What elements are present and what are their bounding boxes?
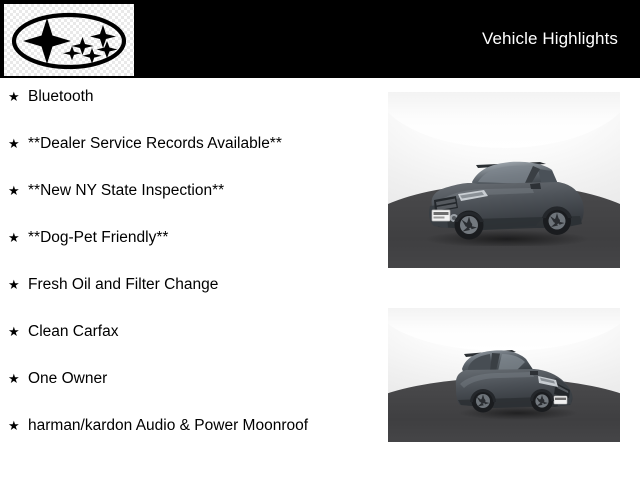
star-bullet-icon: ★	[8, 321, 20, 343]
vehicle-silhouette-icon	[412, 144, 598, 246]
header-bar: Vehicle Highlights	[0, 0, 640, 78]
star-bullet-icon: ★	[8, 133, 20, 155]
subaru-logo-icon	[11, 12, 127, 70]
star-bullet-icon: ★	[8, 368, 20, 390]
list-item: ★ Bluetooth	[0, 86, 380, 133]
list-item-label: **Dealer Service Records Available**	[28, 133, 376, 155]
list-item: ★ Clean Carfax	[0, 321, 380, 368]
vehicle-photo-front-right[interactable]	[388, 308, 620, 442]
list-item-label: Bluetooth	[28, 86, 376, 108]
list-item: ★ One Owner	[0, 368, 380, 415]
star-bullet-icon: ★	[8, 180, 20, 202]
list-item: ★ **Dog-Pet Friendly**	[0, 227, 380, 274]
list-item-label: One Owner	[28, 368, 376, 390]
star-bullet-icon: ★	[8, 415, 20, 437]
vehicle-highlights-list: ★ Bluetooth ★ **Dealer Service Records A…	[0, 86, 380, 462]
list-item-label: Fresh Oil and Filter Change	[28, 274, 376, 296]
subaru-logo	[4, 4, 134, 76]
list-item: ★ harman/kardon Audio & Power Moonroof	[0, 415, 380, 462]
star-bullet-icon: ★	[8, 227, 20, 249]
studio-ceiling	[388, 92, 620, 148]
vehicle-photo-front-left[interactable]	[388, 92, 620, 268]
list-item-label: Clean Carfax	[28, 321, 376, 343]
vehicle-silhouette-icon	[450, 338, 586, 420]
list-item-label: harman/kardon Audio & Power Moonroof	[28, 415, 376, 437]
list-item: ★ Fresh Oil and Filter Change	[0, 274, 380, 321]
star-bullet-icon: ★	[8, 86, 20, 108]
star-bullet-icon: ★	[8, 274, 20, 296]
list-item-label: **Dog-Pet Friendly**	[28, 227, 376, 249]
list-item-label: **New NY State Inspection**	[28, 180, 376, 202]
list-item: ★ **Dealer Service Records Available**	[0, 133, 380, 180]
list-item: ★ **New NY State Inspection**	[0, 180, 380, 227]
page-title: Vehicle Highlights	[482, 28, 618, 50]
